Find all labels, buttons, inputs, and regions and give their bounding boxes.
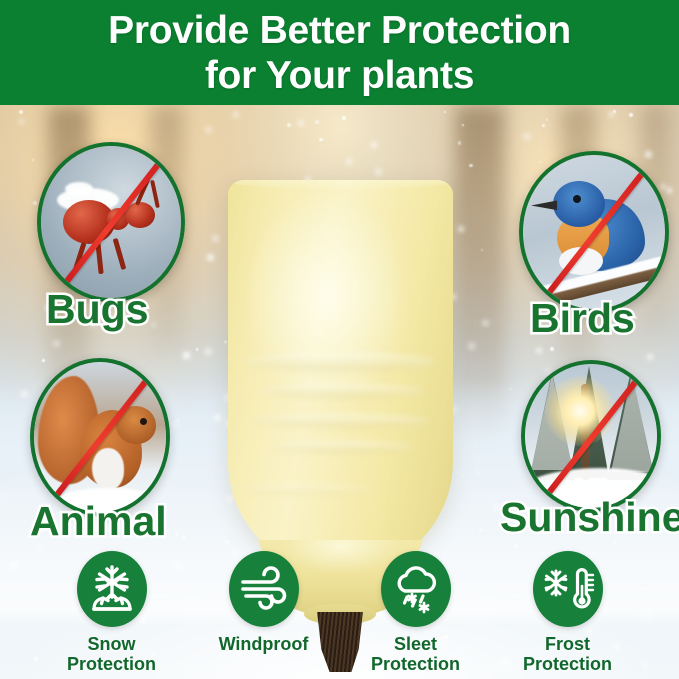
ant-photo [41,146,181,298]
feature-frost[interactable]: FrostProtection [492,551,644,674]
snowflake-thermometer-icon [533,551,603,627]
snowy-forest-photo [525,364,657,508]
squirrel-photo [34,362,166,512]
cloud-sleet-icon [381,551,451,627]
bluebird-photo [523,155,665,309]
feature-snow[interactable]: SnowProtection [36,551,188,674]
bubble-label-bugs: Bugs [46,286,149,333]
wind-icon [229,551,299,627]
feature-label-sleet: SleetProtection [371,634,460,674]
header-line-1: Provide Better Protection [108,9,571,52]
header-line-2: for Your plants [108,53,571,98]
feature-wind[interactable]: Windproof [188,551,340,654]
feature-sleet[interactable]: SleetProtection [340,551,492,674]
bubble-label-animal: Animal [30,498,167,545]
header-banner: Provide Better Protection for Your plant… [0,0,679,105]
snowflake-shelter-icon [77,551,147,627]
bubble-animal[interactable] [30,358,170,516]
bubble-sunshine[interactable] [521,360,661,512]
feature-icon-row: SnowProtection Windproof [0,551,679,679]
page-title: Provide Better Protection for Your plant… [94,8,585,98]
feature-label-frost: FrostProtection [523,634,612,674]
feature-label-snow: SnowProtection [67,634,156,674]
bubble-bugs[interactable] [37,142,185,302]
bubble-birds[interactable] [519,151,669,313]
feature-label-wind: Windproof [219,634,309,654]
product-infographic: Provide Better Protection for Your plant… [0,0,679,679]
bubble-label-birds: Birds [530,295,635,342]
cover-bag-body [228,180,453,570]
bubble-label-sunshine: Sunshine [500,494,679,541]
